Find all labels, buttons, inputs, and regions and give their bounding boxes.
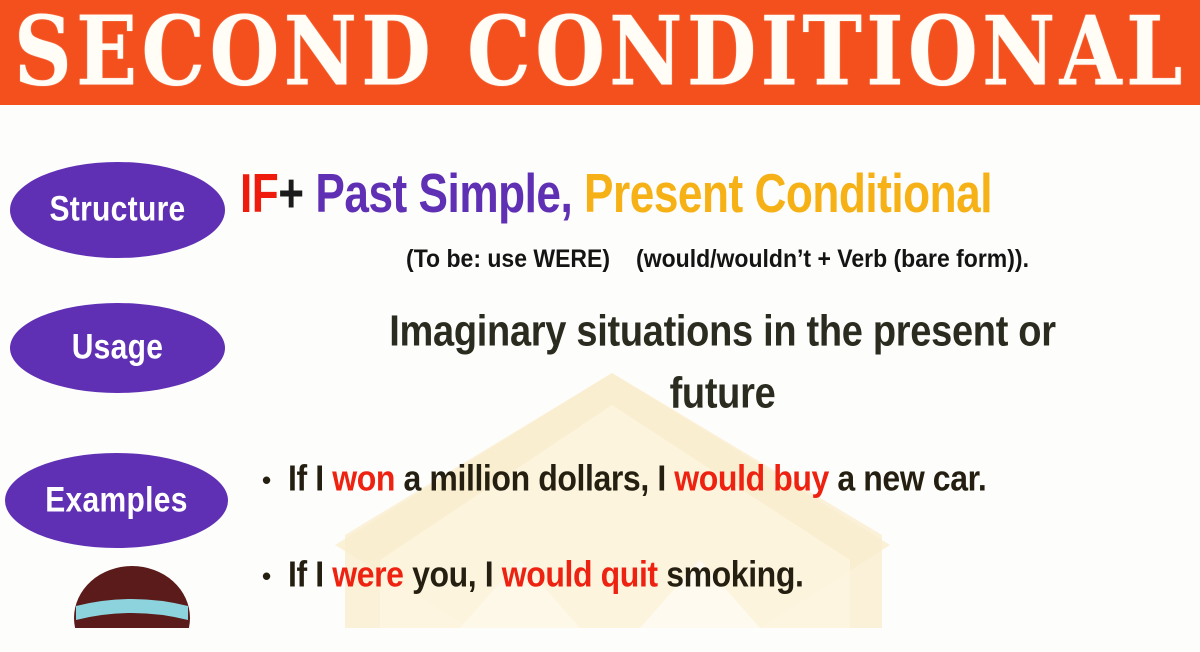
example-sentence-2: If I were you, I would quit smoking. xyxy=(288,554,803,595)
structure-note-would: (would/wouldn’t + Verb (bare form)). xyxy=(636,244,1029,273)
structure-note-tobe: (To be: use WERE) xyxy=(406,244,610,273)
row-label-examples-text: Examples xyxy=(45,480,187,520)
row-label-usage-text: Usage xyxy=(72,328,164,368)
row-label-examples: Examples xyxy=(5,453,228,548)
example-sentence-1: If I won a million dollars, I would buy … xyxy=(288,458,986,499)
example-1-verb-1: won xyxy=(332,458,395,499)
row-label-usage: Usage xyxy=(10,303,225,393)
example-2-pre: If I xyxy=(288,554,332,595)
person-head-icon xyxy=(42,562,222,628)
row-label-structure: Structure xyxy=(10,162,225,258)
example-1-post: a new car. xyxy=(829,458,986,499)
structure-notes: (To be: use WERE)(would/wouldn’t + Verb … xyxy=(240,244,1195,273)
row-label-structure-text: Structure xyxy=(49,190,185,230)
structure-present-conditional: Present Conditional xyxy=(572,162,992,223)
usage-line-2: future xyxy=(250,359,1195,430)
usage-line-1: Imaginary situations in the present or xyxy=(250,297,1195,368)
page-title: SECOND CONDITIONAL xyxy=(14,4,1187,102)
content-sheet: Structure IF+ Past Simple, Present Condi… xyxy=(0,105,1200,628)
example-1-pre: If I xyxy=(288,458,332,499)
example-2-post: smoking. xyxy=(658,554,804,595)
bullet-icon: • xyxy=(262,462,288,498)
examples-content: • If I won a million dollars, I would bu… xyxy=(262,460,1197,652)
structure-content: IF+ Past Simple, Present Conditional (To… xyxy=(240,167,1195,271)
list-item: • If I were you, I would quit smoking. xyxy=(262,556,1197,594)
example-2-verb-1: were xyxy=(332,554,403,595)
structure-formula: IF+ Past Simple, Present Conditional xyxy=(240,162,1157,223)
usage-content: Imaginary situations in the present or f… xyxy=(250,301,1195,425)
list-item: • If I won a million dollars, I would bu… xyxy=(262,460,1197,498)
page-header-banner: SECOND CONDITIONAL xyxy=(0,0,1200,105)
example-1-mid: a million dollars, I xyxy=(395,458,674,499)
example-1-verb-2: would buy xyxy=(674,458,829,499)
person-head-with-headband-illustration xyxy=(42,562,222,628)
bullet-icon: • xyxy=(262,558,288,594)
structure-past-simple: Past Simple, xyxy=(304,162,573,223)
example-2-mid: you, I xyxy=(404,554,502,595)
structure-keyword-if: IF xyxy=(240,162,278,223)
structure-plus-sign: + xyxy=(278,162,303,223)
example-2-verb-2: would quit xyxy=(502,554,658,595)
